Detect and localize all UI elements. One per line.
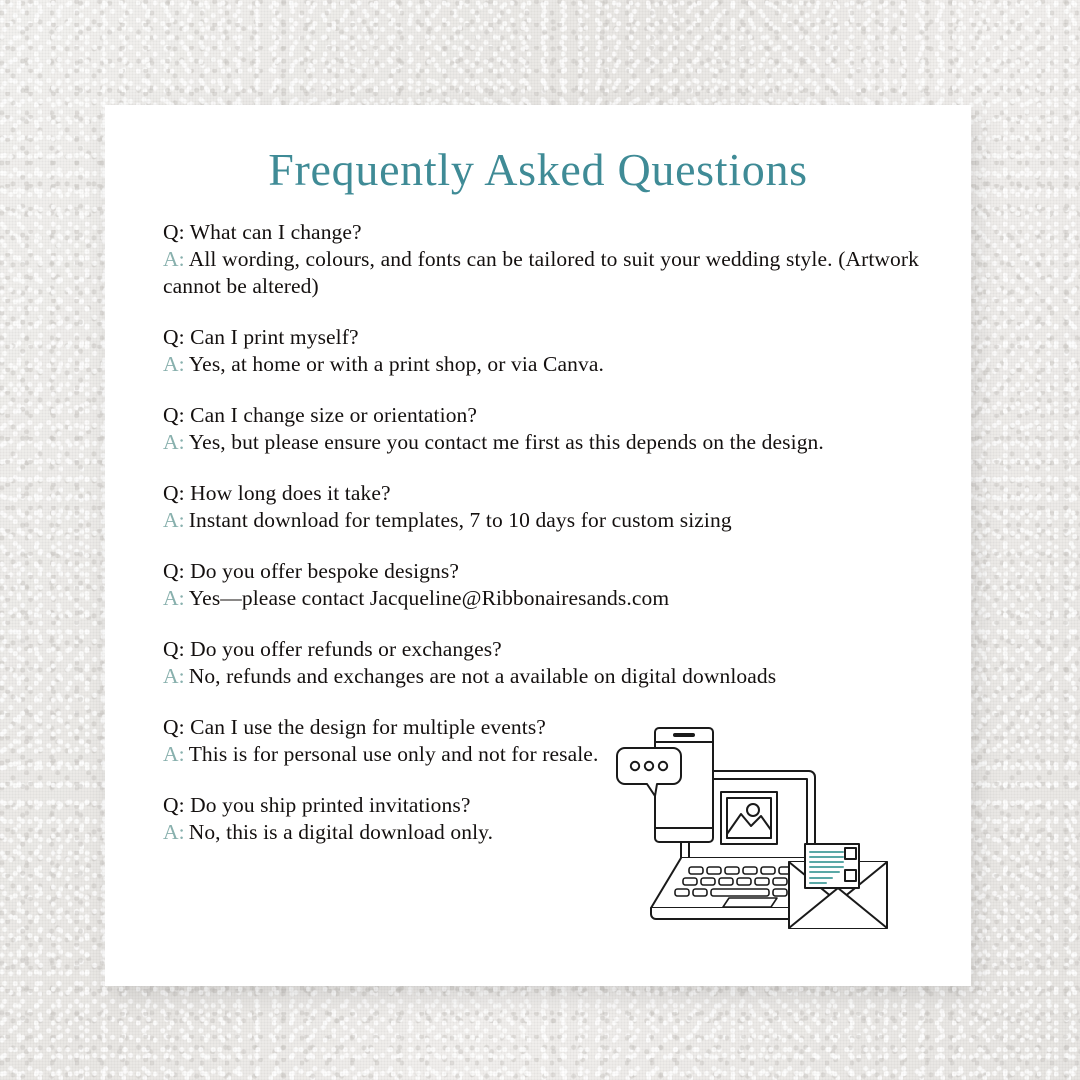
faq-question: Q: Can I print myself? <box>163 324 919 351</box>
answer-text: Instant download for templates, 7 to 10 … <box>189 508 732 532</box>
faq-item: Q: Do you offer bespoke designs? A:Yes—p… <box>163 558 919 612</box>
faq-item: Q: Do you ship printed invitations? A:No… <box>163 792 919 846</box>
faq-question: Q: Do you ship printed invitations? <box>163 792 919 819</box>
faq-item: Q: What can I change? A:All wording, col… <box>163 219 919 300</box>
faq-question: Q: What can I change? <box>163 219 919 246</box>
faq-answer: A:Yes, but please ensure you contact me … <box>163 429 919 456</box>
answer-prefix: A: <box>163 820 185 844</box>
answer-prefix: A: <box>163 352 185 376</box>
answer-text: No, this is a digital download only. <box>189 820 493 844</box>
faq-item: Q: Can I print myself? A:Yes, at home or… <box>163 324 919 378</box>
answer-prefix: A: <box>163 742 185 766</box>
answer-text: Yes, but please ensure you contact me fi… <box>189 430 824 454</box>
answer-prefix: A: <box>163 508 185 532</box>
answer-text: This is for personal use only and not fo… <box>189 742 599 766</box>
answer-text: Yes, at home or with a print shop, or vi… <box>189 352 604 376</box>
faq-answer: A:Yes, at home or with a print shop, or … <box>163 351 919 378</box>
faq-list: Q: What can I change? A:All wording, col… <box>163 219 919 846</box>
letter-icon <box>805 844 859 888</box>
answer-prefix: A: <box>163 664 185 688</box>
faq-question: Q: Can I use the design for multiple eve… <box>163 714 919 741</box>
faq-item: Q: Can I change size or orientation? A:Y… <box>163 402 919 456</box>
faq-answer: A:No, this is a digital download only. <box>163 819 919 846</box>
faq-question: Q: How long does it take? <box>163 480 919 507</box>
faq-answer: A:Instant download for templates, 7 to 1… <box>163 507 919 534</box>
answer-text: All wording, colours, and fonts can be t… <box>163 247 919 298</box>
faq-answer: A:No, refunds and exchanges are not a av… <box>163 663 919 690</box>
answer-prefix: A: <box>163 247 185 271</box>
faq-answer: A:All wording, colours, and fonts can be… <box>163 246 919 300</box>
faq-question: Q: Do you offer bespoke designs? <box>163 558 919 585</box>
faq-item: Q: Can I use the design for multiple eve… <box>163 714 919 768</box>
faq-item: Q: Do you offer refunds or exchanges? A:… <box>163 636 919 690</box>
faq-card: Frequently Asked Questions Q: What can I… <box>105 105 971 986</box>
answer-prefix: A: <box>163 430 185 454</box>
page-title: Frequently Asked Questions <box>105 105 971 196</box>
answer-prefix: A: <box>163 586 185 610</box>
laptop-keyboard <box>675 867 793 907</box>
faq-question: Q: Do you offer refunds or exchanges? <box>163 636 919 663</box>
faq-item: Q: How long does it take? A:Instant down… <box>163 480 919 534</box>
faq-answer: A:This is for personal use only and not … <box>163 741 919 768</box>
faq-question: Q: Can I change size or orientation? <box>163 402 919 429</box>
envelope-icon <box>789 862 887 928</box>
answer-text: Yes—please contact Jacqueline@Ribbonaire… <box>189 586 669 610</box>
answer-text: No, refunds and exchanges are not a avai… <box>189 664 777 688</box>
faq-answer: A:Yes—please contact Jacqueline@Ribbonai… <box>163 585 919 612</box>
